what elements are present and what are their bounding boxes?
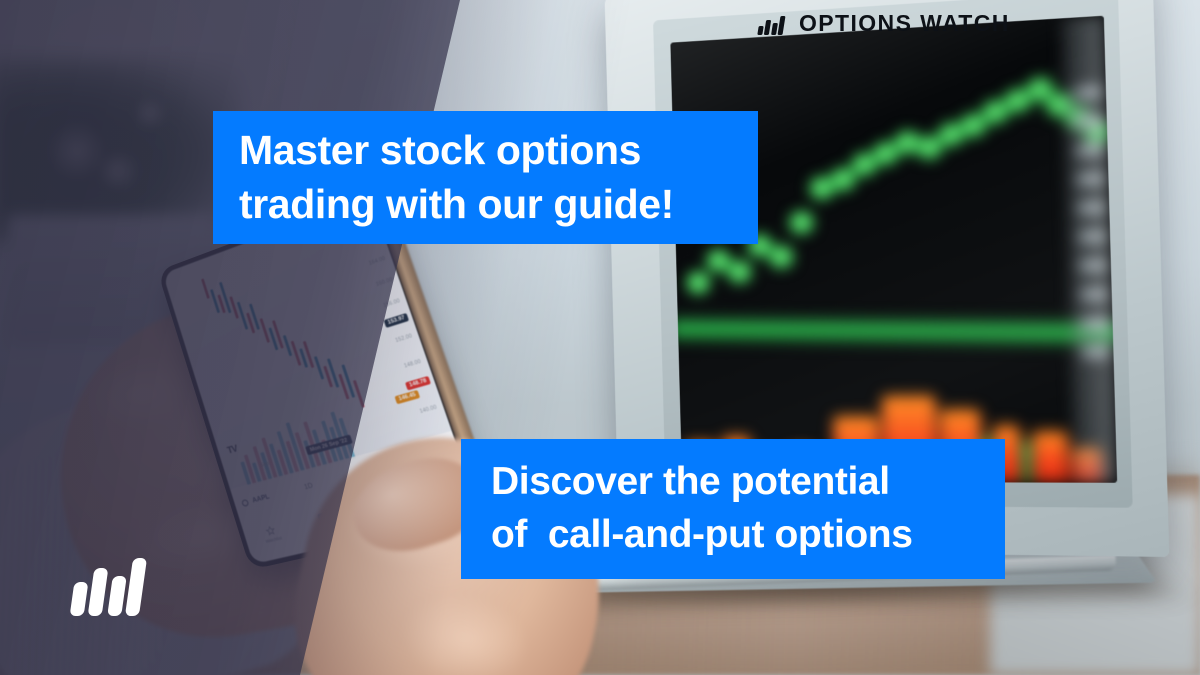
brand-name: OPTIONS WATCH [799,10,1010,37]
brand-logo[interactable]: OPTIONS WATCH [758,10,1010,37]
headline-bottom-line1: Discover the potential [491,461,975,504]
headline-bottom-line2: of call-and-put options [491,514,975,557]
headline-banner-top: Master stock options trading with our gu… [213,111,758,244]
promo-banner-image: 172.00 168.00 164.00 160.00 156.00 152.0… [0,0,1200,675]
headline-top-line1: Master stock options [239,128,732,173]
watermark-logo [72,548,144,616]
bar-chart-logo-icon [758,13,788,35]
headline-top-line2: trading with our guide! [239,182,732,227]
headline-banner-bottom: Discover the potential of call-and-put o… [461,439,1005,579]
